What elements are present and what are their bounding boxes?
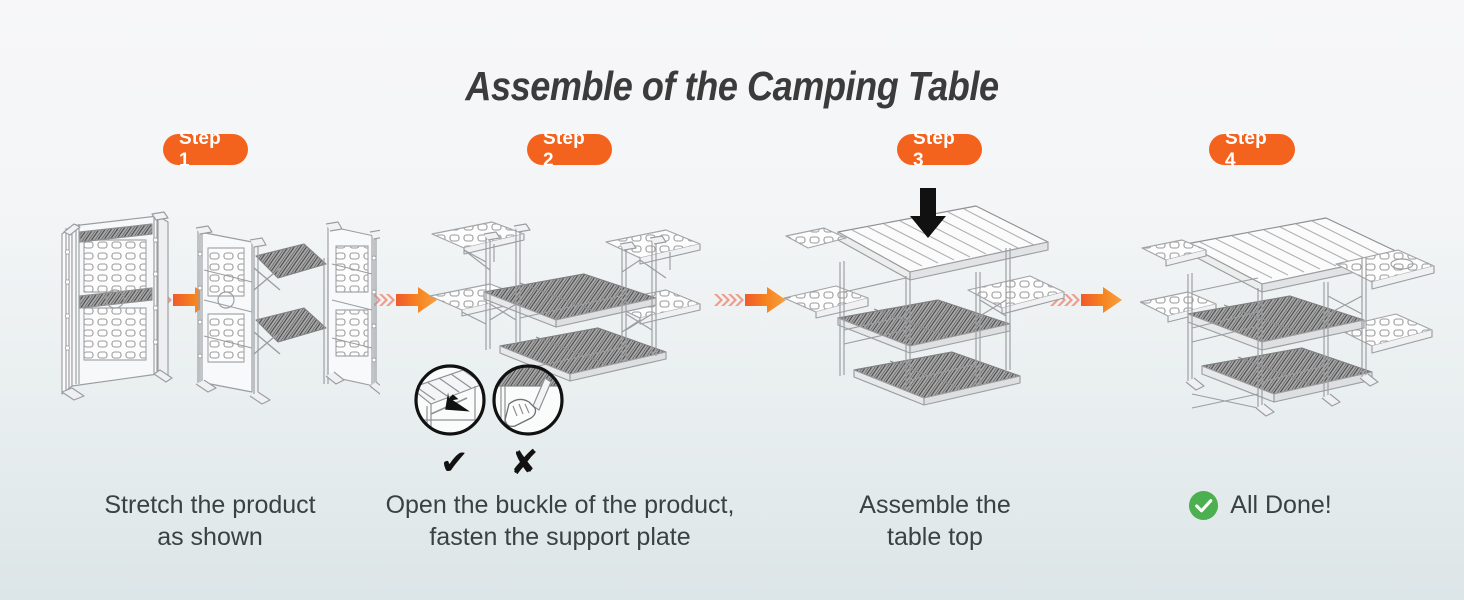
step-badge-4: Step 4: [1209, 134, 1295, 165]
step-badge-3: Step 3: [897, 134, 982, 165]
step-4-illustration: [1140, 196, 1440, 426]
step-4-caption-row: All Done!: [1110, 489, 1410, 521]
incorrect-mark: ✘: [510, 446, 539, 480]
flow-arrow-3-icon: [712, 283, 788, 317]
step-2-caption: Open the buckle of the product, fasten t…: [370, 489, 750, 553]
page-title: Assemble of the Camping Table: [88, 62, 1376, 110]
step-badge-1: Step 1: [163, 134, 248, 165]
step-1-illustration: [40, 196, 380, 426]
step-badge-2: Step 2: [527, 134, 612, 165]
green-check-circle-icon: [1188, 490, 1219, 521]
correct-mark: ✔: [440, 446, 469, 480]
step-4-caption: All Done!: [1230, 489, 1331, 521]
step-3-caption: Assemble the table top: [790, 489, 1080, 553]
step-2-callouts: ✔ ✘: [405, 358, 575, 483]
step-3-illustration: [780, 180, 1070, 420]
infographic-canvas: Assemble of the Camping Table Step 1 Ste…: [0, 0, 1464, 600]
step-1-caption: Stretch the product as shown: [30, 489, 390, 553]
